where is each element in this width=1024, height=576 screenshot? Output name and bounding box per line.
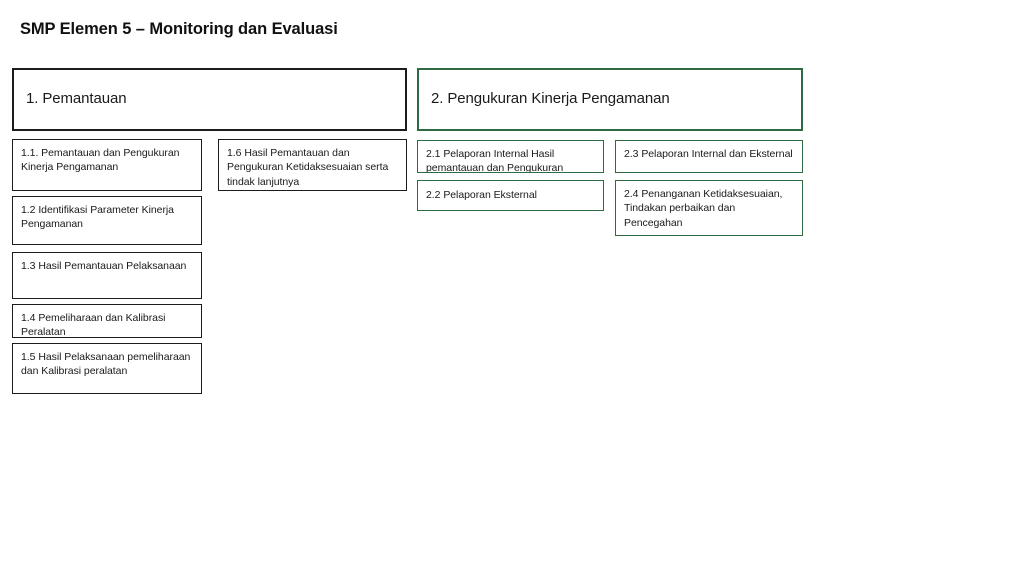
node-2-2[interactable]: 2.2 Pelaporan Eksternal — [417, 180, 604, 211]
node-1-3-label: 1.3 Hasil Pemantauan Pelaksanaan — [21, 257, 193, 273]
node-2-4[interactable]: 2.4 Penanganan Ketidaksesuaian, Tindakan… — [615, 180, 803, 236]
node-1-5-label: 1.5 Hasil Pelaksanaan pemeliharaan dan K… — [21, 348, 193, 379]
node-1-6-label: 1.6 Hasil Pemantauan dan Pengukuran Keti… — [227, 144, 398, 189]
branch-header-1[interactable]: 1. Pemantauan — [12, 68, 407, 131]
page-title: SMP Elemen 5 – Monitoring dan Evaluasi — [20, 20, 338, 39]
node-2-1[interactable]: 2.1 Pelaporan Internal Hasil pemantauan … — [417, 140, 604, 173]
node-1-2-label: 1.2 Identifikasi Parameter Kinerja Penga… — [21, 201, 193, 232]
branch-header-1-label: 1. Pemantauan — [26, 90, 393, 109]
branch-header-2-label: 2. Pengukuran Kinerja Pengamanan — [431, 90, 789, 109]
node-2-2-label: 2.2 Pelaporan Eksternal — [426, 188, 595, 202]
node-2-1-label: 2.1 Pelaporan Internal Hasil pemantauan … — [426, 145, 595, 173]
node-2-3-label: 2.3 Pelaporan Internal dan Eksternal — [624, 145, 794, 161]
node-1-4-label: 1.4 Pemeliharaan dan Kalibrasi Peralatan — [21, 309, 193, 338]
node-1-1-label: 1.1. Pemantauan dan Pengukuran Kinerja P… — [21, 144, 193, 175]
node-1-3[interactable]: 1.3 Hasil Pemantauan Pelaksanaan — [12, 252, 202, 299]
node-1-4[interactable]: 1.4 Pemeliharaan dan Kalibrasi Peralatan — [12, 304, 202, 338]
node-1-2[interactable]: 1.2 Identifikasi Parameter Kinerja Penga… — [12, 196, 202, 245]
branch-header-2[interactable]: 2. Pengukuran Kinerja Pengamanan — [417, 68, 803, 131]
slide-canvas: SMP Elemen 5 – Monitoring dan Evaluasi 1… — [0, 0, 1024, 576]
node-1-6[interactable]: 1.6 Hasil Pemantauan dan Pengukuran Keti… — [218, 139, 407, 191]
node-1-1[interactable]: 1.1. Pemantauan dan Pengukuran Kinerja P… — [12, 139, 202, 191]
node-2-4-label: 2.4 Penanganan Ketidaksesuaian, Tindakan… — [624, 185, 794, 230]
node-2-3[interactable]: 2.3 Pelaporan Internal dan Eksternal — [615, 140, 803, 173]
node-1-5[interactable]: 1.5 Hasil Pelaksanaan pemeliharaan dan K… — [12, 343, 202, 394]
